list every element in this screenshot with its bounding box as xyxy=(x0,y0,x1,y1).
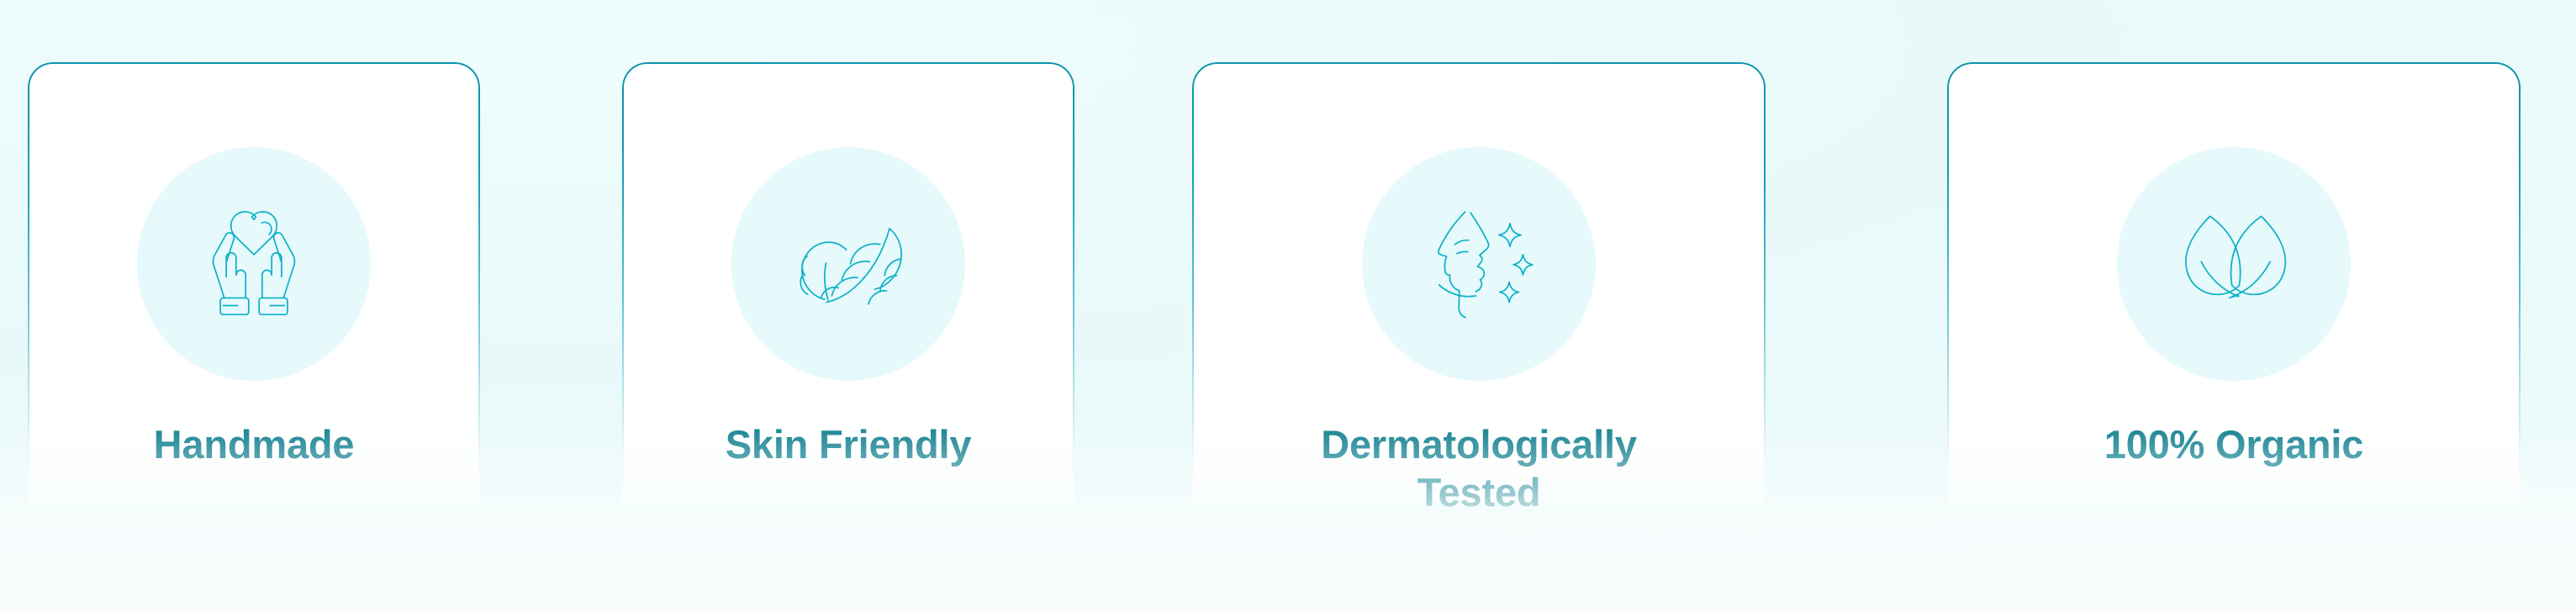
two-leaves-icon xyxy=(2117,147,2351,381)
feature-card-handmade[interactable]: Handmade xyxy=(28,62,480,503)
face-profile-sparkles-icon xyxy=(1362,147,1596,381)
feature-card-label: 100% Organic xyxy=(2089,420,2378,468)
feature-card-label: Dermatologically Tested xyxy=(1306,420,1652,517)
feature-badges-section: Handmade xyxy=(0,0,2576,612)
feature-card-rail[interactable]: Handmade xyxy=(0,0,2576,612)
hands-holding-heart-icon xyxy=(137,147,371,381)
feature-card-skin-friendly[interactable]: Skin Friendly xyxy=(622,62,1074,503)
feature-card-dermatologically-tested[interactable]: Dermatologically Tested xyxy=(1192,62,1766,503)
feature-card-organic[interactable]: 100% Organic xyxy=(1947,62,2521,503)
feather-icon xyxy=(731,147,965,381)
feature-card-label: Handmade xyxy=(139,420,370,468)
feature-card-label: Skin Friendly xyxy=(710,420,987,468)
